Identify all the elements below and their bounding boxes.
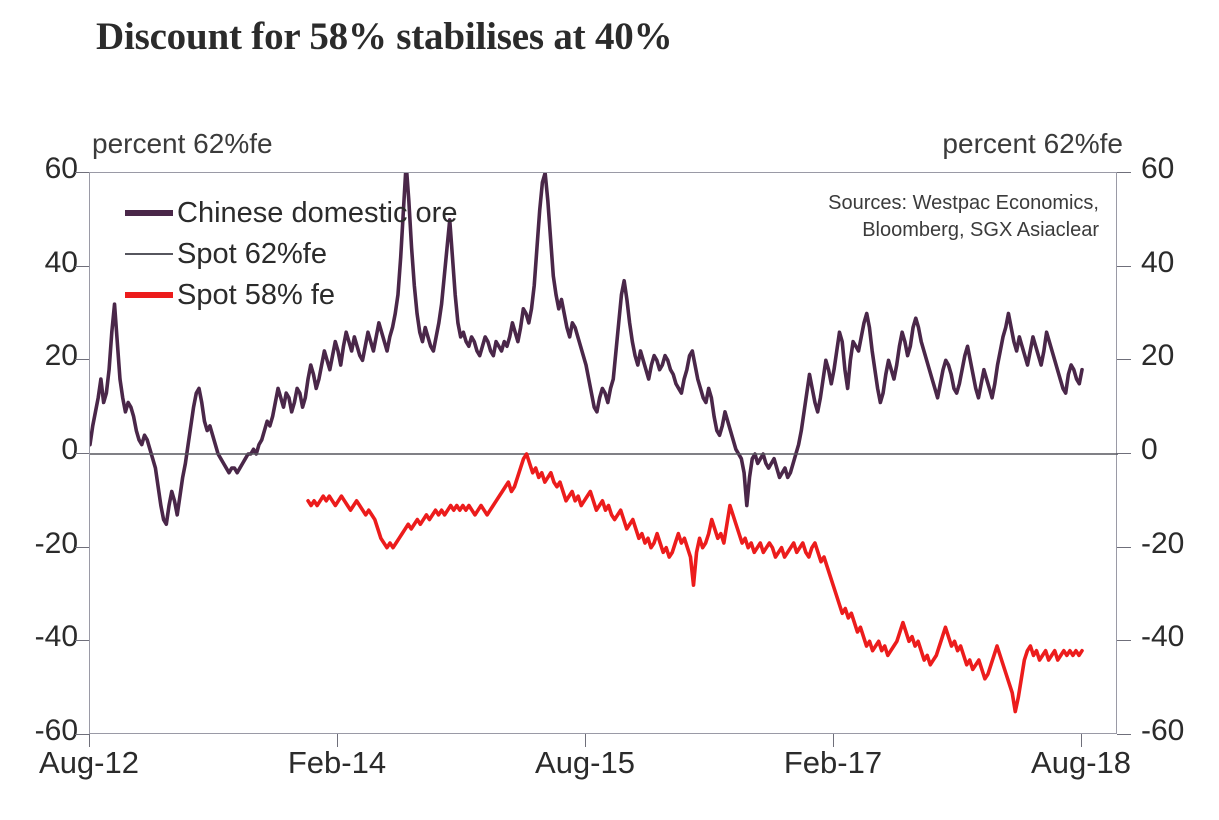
y-tick-mark-left [75, 359, 89, 360]
y-tick-label-left: -20 [35, 529, 78, 559]
right-axis-unit-label: percent 62%fe [942, 128, 1123, 160]
y-tick-mark-right [1117, 640, 1131, 641]
y-tick-mark-left [75, 547, 89, 548]
y-tick-mark-right [1117, 359, 1131, 360]
sources-note: Sources: Westpac Economics, Bloomberg, S… [828, 190, 1099, 244]
legend-label: Spot 58% fe [177, 281, 335, 310]
y-tick-mark-right [1117, 266, 1131, 267]
y-tick-label-right: -40 [1141, 622, 1184, 652]
y-tick-mark-left [75, 640, 89, 641]
y-tick-label-right: 60 [1141, 154, 1174, 184]
y-tick-label-right: 20 [1141, 341, 1174, 371]
y-tick-label-left: 40 [45, 248, 78, 278]
series-line-spot-58-fe [308, 454, 1082, 712]
left-axis-unit-label: percent 62%fe [92, 128, 273, 160]
y-tick-label-left: 0 [61, 435, 78, 465]
y-tick-mark-right [1117, 453, 1131, 454]
y-tick-mark-left [75, 734, 89, 735]
y-tick-label-right: 40 [1141, 248, 1174, 278]
y-tick-label-left: -60 [35, 716, 78, 746]
x-tick-label: Aug-18 [1031, 745, 1131, 781]
y-tick-mark-right [1117, 547, 1131, 548]
x-tick-label: Aug-12 [39, 745, 139, 781]
y-tick-label-right: -60 [1141, 716, 1184, 746]
legend-item-spot-58fe[interactable]: Spot 58% fe [125, 278, 457, 312]
y-tick-mark-left [75, 266, 89, 267]
legend-swatch-grey [125, 253, 173, 255]
y-tick-mark-left [75, 453, 89, 454]
legend-label: Chinese domestic ore [177, 199, 457, 228]
legend-swatch-purple [125, 210, 173, 216]
page-title: Discount for 58% stabilises at 40% [96, 14, 672, 59]
y-tick-mark-right [1117, 734, 1131, 735]
x-tick-label: Aug-15 [535, 745, 635, 781]
legend-item-chinese-domestic-ore[interactable]: Chinese domestic ore [125, 196, 457, 230]
sources-line-1: Sources: Westpac Economics, [828, 190, 1099, 217]
chart-page: Discount for 58% stabilises at 40% perce… [0, 0, 1219, 820]
sources-line-2: Bloomberg, SGX Asiaclear [828, 217, 1099, 244]
y-tick-label-left: 20 [45, 341, 78, 371]
y-tick-label-left: 60 [45, 154, 78, 184]
x-tick-label: Feb-17 [784, 745, 882, 781]
legend-label: Spot 62%fe [177, 240, 327, 269]
chart-legend: Chinese domestic ore Spot 62%fe Spot 58%… [125, 196, 457, 312]
y-tick-mark-left [75, 172, 89, 173]
legend-swatch-red [125, 292, 173, 298]
y-tick-mark-right [1117, 172, 1131, 173]
x-tick-label: Feb-14 [288, 745, 386, 781]
legend-item-spot-62fe[interactable]: Spot 62%fe [125, 237, 457, 271]
y-tick-label-left: -40 [35, 622, 78, 652]
y-tick-label-right: 0 [1141, 435, 1158, 465]
y-tick-label-right: -20 [1141, 529, 1184, 559]
